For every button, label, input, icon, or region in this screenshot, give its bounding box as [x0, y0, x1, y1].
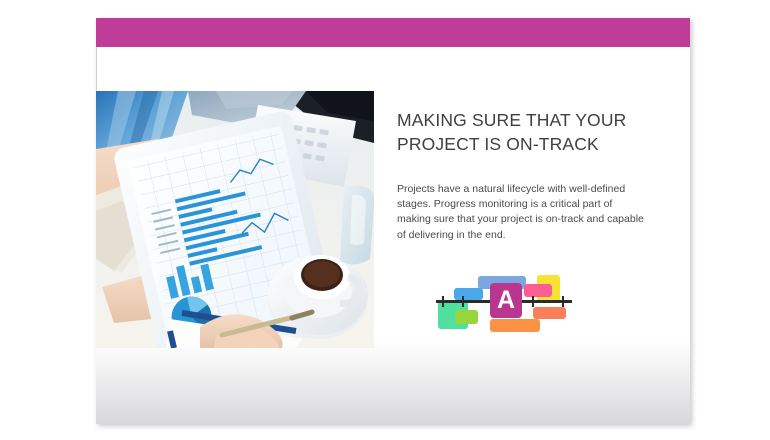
pink-task: [524, 284, 552, 297]
presentation-slide: MAKING SURE THAT YOUR PROJECT IS ON-TRAC…: [96, 18, 690, 424]
slide-text-column: MAKING SURE THAT YOUR PROJECT IS ON-TRAC…: [397, 108, 649, 243]
blue-task-left: [454, 288, 483, 300]
salmon-task: [533, 307, 566, 319]
gantt-letter-badge: A: [490, 283, 522, 318]
gantt-tick-1: [442, 296, 444, 307]
gantt-tick-5: [562, 296, 564, 307]
slide-header-band: [96, 18, 690, 47]
orange-task: [490, 319, 540, 332]
gantt-chart-graphic: A: [436, 272, 572, 334]
slide-title: MAKING SURE THAT YOUR PROJECT IS ON-TRAC…: [397, 108, 649, 156]
slide-body-text: Projects have a natural lifecycle with w…: [397, 182, 649, 243]
gantt-tick-4: [532, 296, 534, 307]
slide-footer-gradient: [96, 341, 690, 424]
slide-title-line-2: PROJECT IS ON-TRACK: [397, 134, 599, 154]
gantt-tick-2: [462, 296, 464, 307]
slide-title-line-1: MAKING SURE THAT YOUR: [397, 110, 626, 130]
gantt-letter-a: A: [490, 283, 522, 318]
lime-task: [455, 310, 478, 324]
business-tablet-photo: [96, 91, 374, 348]
